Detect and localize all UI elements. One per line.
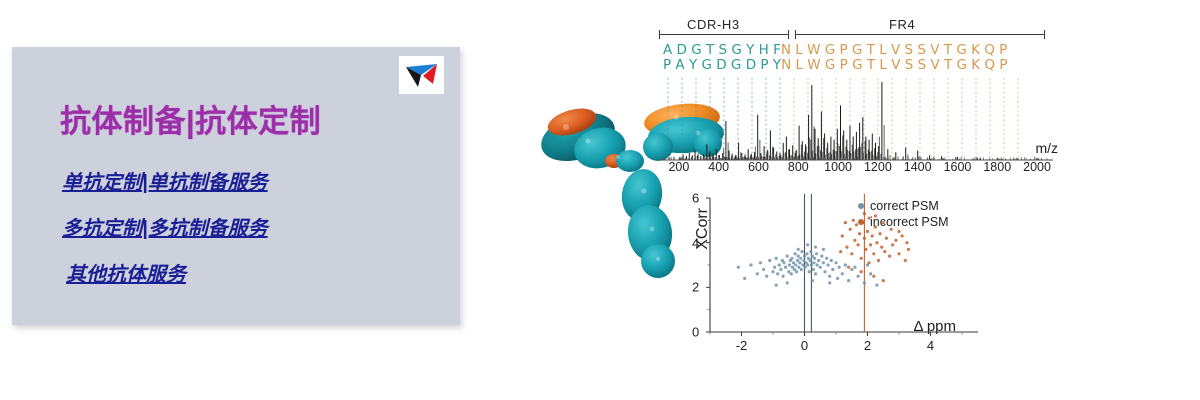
seq-row1-fr: N L W G P G T L V S S V T G K Q P: [781, 42, 1007, 58]
legend-label-correct: correct PSM: [870, 199, 939, 213]
scatter-ytick-4: 4: [692, 235, 699, 250]
scatter-ytick-6: 6: [692, 191, 699, 206]
tri-color-chevron-logo-icon: [399, 56, 444, 94]
scatter-xtick-0: 0: [801, 338, 808, 353]
spectrum-tick-2000: 2000: [1023, 160, 1051, 174]
spectrum-tick-1400: 1400: [904, 160, 932, 174]
fr4-bracket: [795, 34, 1045, 35]
spectrum-axis-label: m/z: [1035, 140, 1058, 156]
spectrum-tick-200: 200: [668, 160, 689, 174]
scatter-ytick-2: 2: [692, 280, 699, 295]
spectrum-tick-1800: 1800: [983, 160, 1011, 174]
scatter-xtick-4: 4: [927, 338, 934, 353]
spectrum-tick-600: 600: [748, 160, 769, 174]
spectrum-canvas: [655, 78, 1055, 166]
spectrum-tick-1000: 1000: [824, 160, 852, 174]
legend-dot-correct: [858, 203, 864, 209]
scatter-ytick-0: 0: [692, 325, 699, 340]
scientific-figure: CDR-H3 FR4 A D G T S G Y H FN L W G P G …: [520, 0, 1080, 400]
legend-label-incorrect: incorrect PSM: [870, 215, 949, 229]
scatter-xtick--2: -2: [736, 338, 748, 353]
spectrum-tick-1600: 1600: [944, 160, 972, 174]
psm-scatter-chart: XCorr Δ ppm 0246 -2024 correct PSM incor…: [680, 190, 980, 370]
scatter-legend: correct PSM incorrect PSM: [858, 198, 949, 230]
spectrum-tick-400: 400: [708, 160, 729, 174]
seq-row1-cdr: A D G T S G Y H F: [663, 42, 781, 58]
fr4-label: FR4: [889, 17, 915, 32]
sequence-alignment: CDR-H3 FR4 A D G T S G Y H FN L W G P G …: [655, 20, 1050, 82]
cdr-h3-bracket: [659, 34, 789, 35]
promo-link-polyclonal[interactable]: 多抗定制|多抗制备服务: [62, 217, 268, 241]
seq-row2-cdr: P A Y G D G D P Y: [663, 57, 781, 73]
legend-item-incorrect: incorrect PSM: [858, 214, 949, 229]
legend-item-correct: correct PSM: [858, 198, 949, 213]
mass-spectrum-chart: m/z 200400600800100012001400160018002000: [655, 78, 1055, 188]
spectrum-tick-1200: 1200: [864, 160, 892, 174]
promo-link-other-services[interactable]: 其他抗体服务: [66, 263, 186, 287]
seq-row2-fr: N L W G P G T L V S S V T G K Q P: [781, 57, 1007, 73]
spectrum-tick-labels: 200400600800100012001400160018002000: [655, 160, 1055, 180]
legend-dot-incorrect: [858, 219, 864, 225]
page-root: 抗体制备|抗体定制 单抗定制|单抗制备服务 多抗定制|多抗制备服务 其他抗体服务: [0, 0, 1200, 400]
sequence-row-top: A D G T S G Y H FN L W G P G T L V S S V…: [663, 42, 1007, 58]
page-title: 抗体制备|抗体定制: [60, 105, 321, 139]
sequence-row-bottom: P A Y G D G D P YN L W G P G T L V S S V…: [663, 57, 1007, 73]
promo-panel: 抗体制备|抗体定制 单抗定制|单抗制备服务 多抗定制|多抗制备服务 其他抗体服务: [12, 47, 460, 325]
promo-link-monoclonal[interactable]: 单抗定制|单抗制备服务: [62, 171, 268, 195]
scatter-xtick-2: 2: [864, 338, 871, 353]
spectrum-tick-800: 800: [788, 160, 809, 174]
cdr-h3-label: CDR-H3: [687, 17, 740, 32]
